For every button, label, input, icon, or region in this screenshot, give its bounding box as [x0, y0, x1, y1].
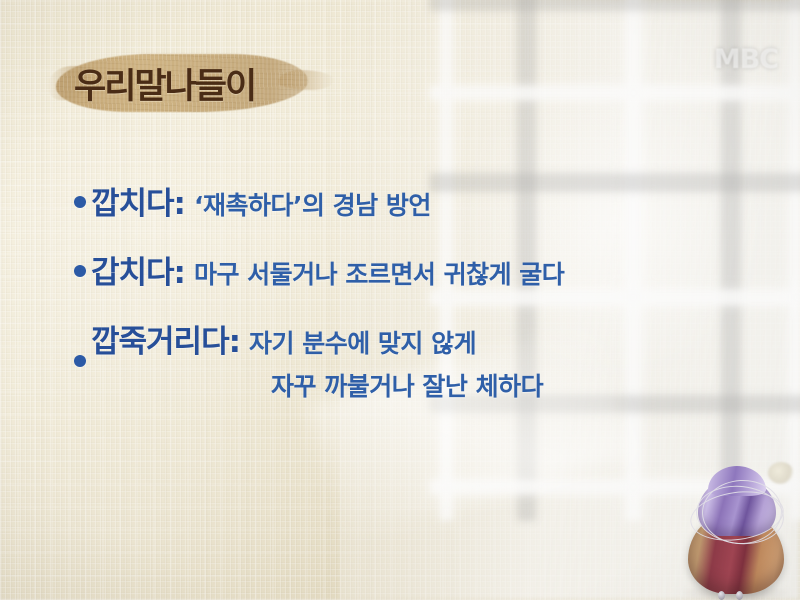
entry-headword: 깝죽거리다: [91, 316, 240, 361]
entry-definition: 자기 분수에 맞지 않게 자꾸 까불거나 잘난 체하다 [249, 324, 543, 403]
entry-definition: ‘재촉하다’의 경남 방언 [194, 186, 431, 222]
broadcast-caption-screen: MBC 우리말나들이 깝치다: ‘재촉하다’의 경남 방언 갑치다: 마구 서둘… [0, 0, 800, 600]
program-title-block: 우리말나들이 [56, 50, 316, 120]
entry-definition-line: 자기 분수에 맞지 않게 [249, 329, 476, 358]
pouch-flower-ornament [768, 462, 794, 484]
bullet-icon [74, 196, 86, 208]
page-title: 우리말나들이 [74, 58, 255, 109]
bullet-icon [74, 355, 86, 367]
list-item: 갑치다: 마구 서둘거나 조르면서 귀찮게 굴다 [74, 247, 774, 292]
list-item: 깝죽거리다: 자기 분수에 맞지 않게 자꾸 까불거나 잘난 체하다 [74, 316, 774, 403]
traditional-silk-pouch [678, 462, 796, 600]
entry-definition-line: 마구 서둘거나 조르면서 귀찮게 굴다 [194, 260, 564, 289]
pouch-tassel-bead [736, 591, 743, 600]
pouch-tassel-bead [718, 591, 725, 600]
entry-definition: 마구 서둘거나 조르면서 귀찮게 굴다 [194, 255, 564, 291]
list-item: 깝치다: ‘재촉하다’의 경남 방언 [74, 178, 774, 223]
entry-headword: 깝치다: [91, 178, 185, 223]
mbc-logo: MBC [714, 44, 778, 75]
entry-headword: 갑치다: [91, 247, 185, 292]
bullet-icon [74, 265, 86, 277]
entry-definition-line: ‘재촉하다’의 경남 방언 [194, 191, 431, 220]
definition-list: 깝치다: ‘재촉하다’의 경남 방언 갑치다: 마구 서둘거나 조르면서 귀찮게… [74, 178, 774, 427]
entry-definition-continuation: 자꾸 까불거나 잘난 체하다 [271, 367, 543, 403]
